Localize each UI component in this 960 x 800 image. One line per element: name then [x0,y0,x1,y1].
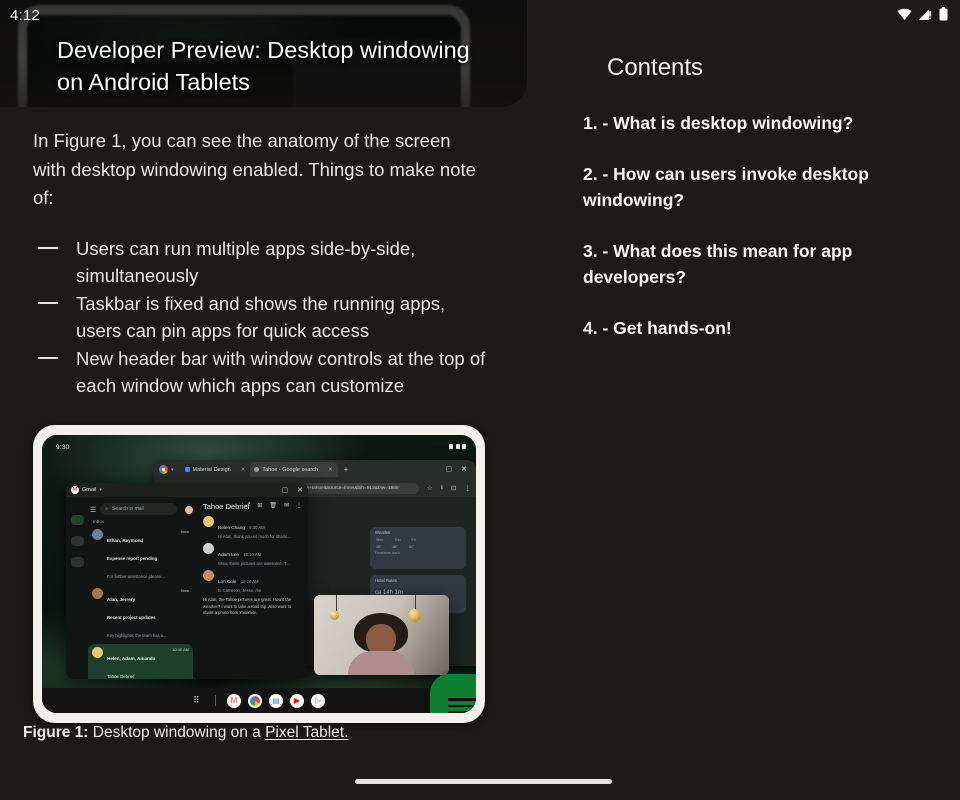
message-time: 9:30 AM [249,525,264,530]
window-controls[interactable]: ▢ ✕ [446,466,472,473]
message-snippet: Wow, these pictures are awesome. T... [218,561,290,566]
toc-item-4[interactable]: 4. - Get hands-on! [583,315,943,341]
device-screen: 9:30 ▾ Material Design [42,435,476,713]
lamp-icon [330,611,339,620]
gmail-icon[interactable]: M [227,694,241,708]
slides-icon[interactable]: ▤ [269,694,283,708]
close-icon[interactable]: ✕ [328,467,333,473]
widget-title: Weather [370,527,466,535]
video-participant [348,613,414,675]
widget-note: Realtime data [370,549,466,555]
list-item-text: Users can run multiple apps side-by-side… [76,238,415,286]
contents-column: Contents 1. - What is desktop windowing?… [527,0,960,800]
more-icon[interactable]: ⋮ [296,502,302,509]
close-icon[interactable]: ✕ [241,467,246,473]
list-item: Taskbar is fixed and shows the running a… [33,290,493,344]
weather-widget: Weather Wed Thu Fri 46° 88° 92° [370,527,466,569]
thread-sender: Helen, Adam, Amanda [107,656,155,661]
hamburger-icon[interactable]: ☰ [88,506,96,514]
menu-fab-button[interactable] [430,674,476,713]
favicon [185,467,190,472]
chrome-icon[interactable] [248,694,262,708]
menu-hamburger-icon [448,694,476,713]
browser-tab[interactable]: Material Design ✕ [181,462,251,477]
figure-caption: Figure 1: Desktop windowing on a Pixel T… [23,723,493,743]
rail-mail-icon[interactable] [71,515,84,525]
article-screen: Developer Preview: Desktop windowing on … [0,0,960,800]
gmail-app-name: Gmail [82,487,96,493]
search-icon: ⌕ [105,506,108,512]
list-item: New header bar with window controls at t… [33,345,493,399]
device-signal-icon [456,444,460,449]
figure-caption-text: Desktop windowing on a [93,724,265,741]
rail-meet-icon[interactable] [71,557,84,567]
article-body-column: In Figure 1, you can see the anatomy of … [0,107,527,800]
taskbar[interactable]: ⠿ M ▤ ▶ ▷ [42,688,476,713]
widget-forecast-row: Wed Thu Fri [370,535,466,542]
torso-shape [348,651,414,675]
gmail-window[interactable]: M Gmail ▾ ▢ ✕ [66,483,308,679]
thread-subject: Tahoe Debrief [107,674,134,679]
figure-1: 9:30 ▾ Material Design [33,425,485,723]
gmail-body: ☰ ⌕ Search in mail Inbox [66,497,308,679]
gmail-thread-row-selected[interactable]: Helen, Adam, Amanda Tahoe Debrief Hi Ala… [88,644,193,679]
avatar [203,516,214,527]
message-row[interactable]: Lori Cole 10:20 AM to Cameron, Jesse, me [203,570,301,593]
play-store-icon[interactable]: ▷ [311,694,325,708]
message-snippet: Hi Alan, thank you so much for sharin... [218,534,291,539]
table-of-contents: 1. - What is desktop windowing? 2. - How… [583,110,943,366]
message-row[interactable]: Adam Lee 10:10 AM Wow, these pictures ar… [203,543,301,566]
message-body-text: Hi Alan, the Tahoe pictures are great. H… [203,597,301,617]
avatar [92,529,103,540]
thread-time: Now [181,588,189,642]
message-recipients: to Cameron, Jesse, me [218,588,261,593]
mark-unread-icon[interactable]: ✉ [284,502,289,509]
intro-paragraph: In Figure 1, you can see the anatomy of … [33,127,485,213]
thread-time: Now [181,529,189,583]
chrome-icon [159,465,168,474]
forecast-day: Thu [394,538,400,542]
message-time: 10:20 AM [241,579,259,584]
message-sender: Helen Chang [218,525,245,530]
divider [215,695,216,706]
message-row[interactable]: Helen Chang 9:30 AM Hi Alan, thank you s… [203,516,301,539]
device-status-icons [449,444,466,449]
message-time: 10:10 AM [243,552,261,557]
maximize-icon[interactable]: ▢ [282,487,289,494]
info-icon[interactable]: ⊡ [451,484,456,492]
favicon [254,467,259,472]
forecast-temp: 46° [376,545,381,549]
list-item-text: Taskbar is fixed and shows the running a… [76,293,445,341]
gmail-reading-pane: ⤢ ⊞ 🗑 ✉ ⋮ Tahoe Debrief [196,497,308,679]
avatar [92,588,103,599]
search-input[interactable]: ⌕ Search in mail [100,503,177,515]
figure-label: Figure 1: [23,724,88,741]
toc-item-3[interactable]: 3. - What does this mean for app develop… [583,238,943,290]
widget-temps-row: 46° 88° 92° [370,542,466,549]
gmail-nav-rail[interactable] [66,497,88,679]
gmail-header-bar[interactable]: M Gmail ▾ ▢ ✕ [66,483,308,497]
expand-icon[interactable]: ⤢ [246,502,251,509]
window-controls[interactable]: ▢ ✕ [282,487,304,494]
forecast-day: Fri [412,538,416,542]
message-sender: Adam Lee [218,552,239,557]
avatar[interactable] [185,506,193,514]
close-icon[interactable]: ✕ [297,487,303,494]
thread-sender: Ethan, Raymond [107,538,143,543]
chevron-down-icon[interactable]: ▾ [99,487,102,493]
download-icon[interactable]: ⭳ [441,483,443,494]
list-item: Users can run multiple apps side-by-side… [33,235,493,289]
add-to-tasks-icon[interactable]: ⊞ [257,502,262,509]
avatar [92,647,103,658]
new-tab-button[interactable]: + [344,465,349,474]
gmail-icon: M [71,486,79,494]
page-title: Developer Preview: Desktop windowing on … [57,34,487,98]
overflow-menu-icon[interactable]: ⋮ [465,484,472,492]
dash-bullet-icon [38,247,58,249]
device-wifi-icon [449,444,453,449]
gmail-folder-label: Inbox [88,519,193,524]
rail-chat-icon[interactable] [71,536,84,546]
list-item-text: New header bar with window controls at t… [76,348,485,396]
chevron-down-icon[interactable]: ▾ [171,467,174,473]
forecast-temp: 92° [409,545,414,549]
forecast-day: Wed [376,538,383,542]
browser-tab-title: Tahoe - Google search [262,467,318,473]
device-battery-icon [462,444,466,449]
thread-time: 10:40 AM [172,647,189,680]
search-placeholder: Search in mail [112,506,144,512]
gmail-thread-list[interactable]: ☰ ⌕ Search in mail Inbox [88,497,196,679]
app-search-icon[interactable]: ⠿ [193,695,204,706]
bookmark-star-icon[interactable]: ☆ [427,484,433,492]
thread-preview: Key highlights: the team has a... [107,633,167,638]
bullet-list: Users can run multiple apps side-by-side… [33,235,493,400]
toc-item-1[interactable]: 1. - What is desktop windowing? [583,110,943,136]
thread-subject: Recent project updates [107,615,156,620]
youtube-icon[interactable]: ▶ [290,694,304,708]
lamp-cord [336,595,337,611]
message-sender: Lori Cole [218,579,236,584]
toc-item-2[interactable]: 2. - How can users invoke desktop window… [583,161,943,213]
forecast-temp: 88° [392,545,397,549]
figure-caption-link[interactable]: Pixel Tablet. [265,724,348,741]
chrome-tab-strip[interactable]: ▾ Material Design ✕ Tahoe - Google searc… [154,460,476,479]
lamp-cord [415,595,416,609]
thread-sender: Alan, Jerrery [107,597,135,602]
thread-preview: For further assistance please... [107,574,165,579]
widget-title: Hotel Rates [370,575,466,583]
close-icon[interactable]: ✕ [461,466,467,473]
avatar [203,570,214,581]
pixel-tablet-device-frame: 9:30 ▾ Material Design [33,425,485,723]
thread-subject: Expense report pending [107,556,157,561]
gmail-thread-row[interactable]: Alan, Jerrery Recent project updates Key… [88,585,193,644]
delete-icon[interactable]: 🗑 [269,502,277,509]
avatar [203,543,214,554]
video-call-window[interactable] [314,595,449,675]
browser-tab-title: Material Design [193,467,231,473]
dash-bullet-icon [38,357,58,359]
gmail-message-toolbar[interactable]: ⤢ ⊞ 🗑 ✉ ⋮ [246,502,303,509]
device-clock: 9:30 [56,444,69,451]
dash-bullet-icon [38,302,58,304]
gmail-thread-row[interactable]: Ethan, Raymond Expense report pending Fo… [88,526,193,585]
browser-tab[interactable]: Tahoe - Google search ✕ [250,462,337,477]
contents-heading: Contents [607,54,703,82]
maximize-icon[interactable]: ▢ [446,466,453,473]
